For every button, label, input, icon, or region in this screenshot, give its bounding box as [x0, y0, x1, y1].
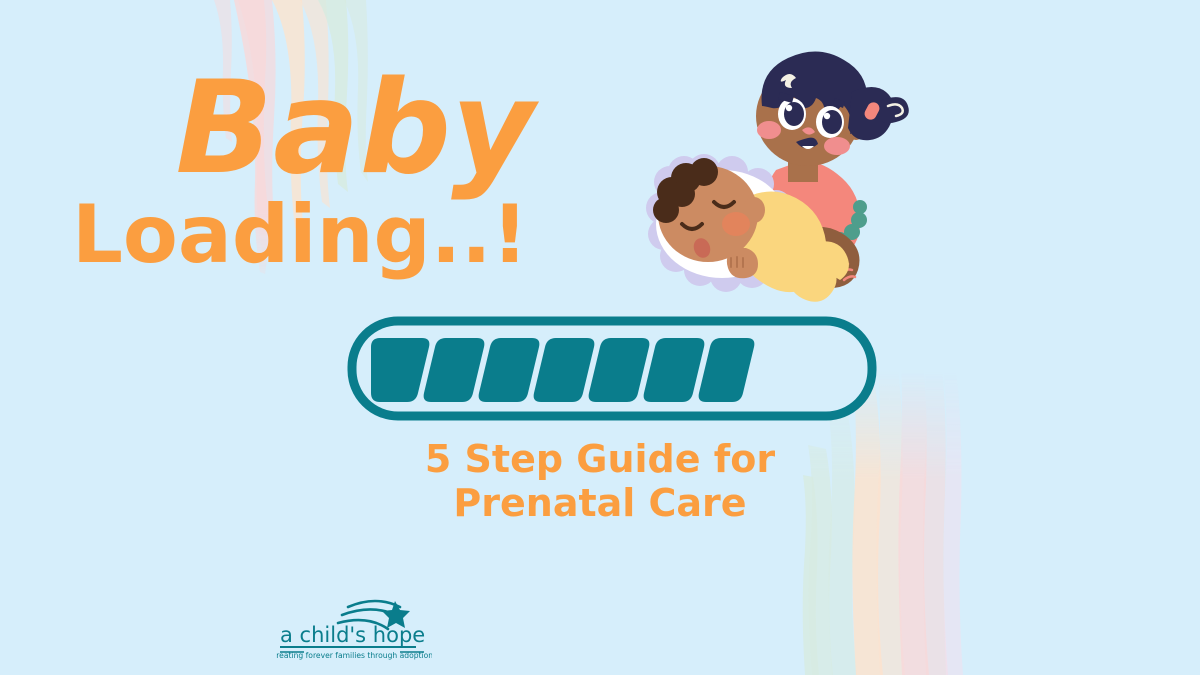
headline-line1-text: Baby	[176, 54, 540, 203]
headline-line2-text: Loading..!	[72, 188, 528, 281]
brand-name: a child's hope	[276, 660, 277, 661]
subtitle-line1-text: 5 Step Guide for	[425, 437, 776, 481]
brand-name-text: a child's hope	[280, 623, 425, 647]
subtitle-line2-text: Prenatal Care	[453, 481, 746, 525]
girl-cheek-right	[824, 137, 850, 155]
girl-cheek-left	[757, 121, 781, 139]
baby-cheek	[722, 212, 750, 236]
loading-bar[interactable]	[347, 316, 877, 421]
subtitle-line1: 5 Step Guide for	[600, 532, 601, 533]
brand-tagline: Creating forever families through adopti…	[276, 660, 277, 661]
babies-illustration	[630, 42, 910, 307]
headline-line1: Baby	[345, 282, 346, 283]
brand-tagline-text: Creating forever families through adopti…	[276, 651, 432, 660]
brand-logo[interactable]: a child's hope Creating forever families…	[276, 588, 432, 660]
headline: Baby Loading..! Baby Loading..!	[0, 52, 690, 282]
subtitle: 5 Step Guide for Prenatal Care 5 Step Gu…	[0, 432, 1200, 532]
headline-line2: Loading..!	[345, 282, 346, 283]
subtitle-line2: Prenatal Care	[600, 532, 601, 533]
stroke-cluster-left	[214, 0, 368, 274]
poster-canvas: Baby Loading..! Baby Loading..!	[0, 0, 1200, 675]
